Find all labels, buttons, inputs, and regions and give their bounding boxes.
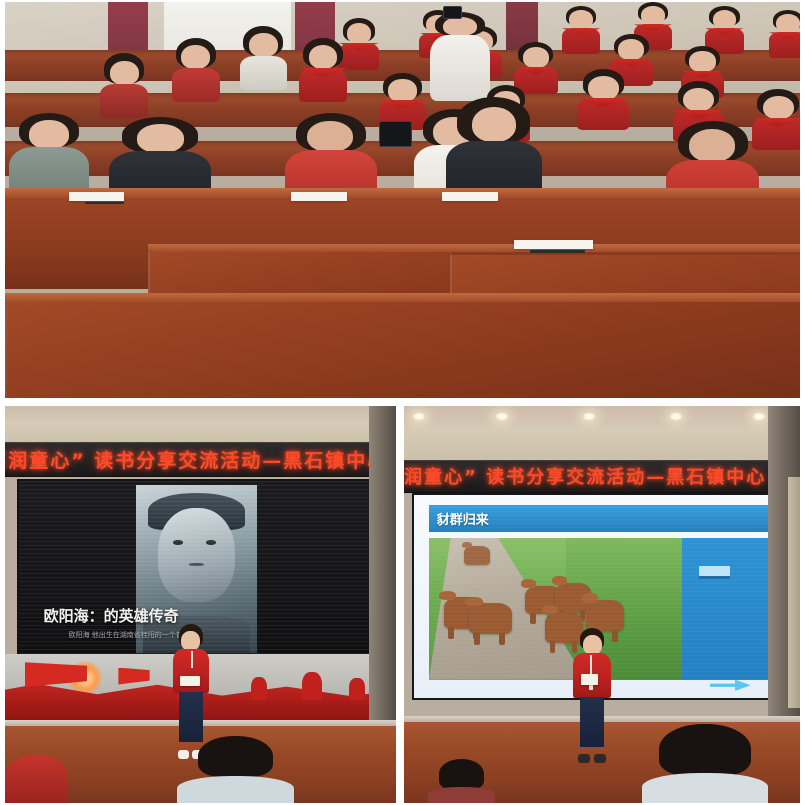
student: [562, 6, 602, 54]
red-neckerchief: [609, 59, 653, 67]
face: [158, 508, 235, 602]
parent: [240, 26, 288, 89]
torso: [430, 35, 490, 101]
shoulders: [642, 773, 769, 803]
hair: [198, 736, 273, 778]
audience-silhouette: [428, 759, 495, 803]
head: [713, 10, 737, 29]
flag-silhouette: [118, 668, 149, 686]
slide-arrow: [710, 680, 751, 691]
audience-silhouette: [177, 736, 294, 803]
red-neckerchief: [705, 28, 743, 35]
head: [465, 597, 483, 606]
ceiling-downlight: [412, 412, 426, 421]
head: [309, 45, 338, 69]
slide-title-right: 豺群归来: [429, 509, 489, 528]
head: [462, 542, 473, 548]
torso: [752, 118, 800, 149]
torso: [577, 98, 629, 129]
head: [776, 14, 800, 33]
presenter-boy: [570, 628, 614, 763]
front-desk-top-edge: [5, 293, 800, 302]
hair: [659, 724, 750, 776]
red-neckerchief: [634, 24, 672, 31]
head: [588, 76, 619, 100]
red-neckerchief: [379, 100, 427, 108]
head: [439, 591, 456, 600]
smartphone: [379, 121, 413, 147]
parent: [172, 38, 220, 101]
note-card: [180, 676, 200, 687]
red-neckerchief: [752, 118, 800, 127]
eye: [206, 540, 216, 544]
pen: [530, 250, 586, 253]
audience-silhouette: [5, 755, 68, 803]
shoulders: [428, 787, 495, 803]
red-neckerchief: [577, 98, 629, 107]
photo-collage: 石润童心” 读书分享交流活动—黑石镇中心 欧阳海：的英雄传奇 欧阳海 他出生在湖…: [0, 0, 805, 805]
red-neckerchief: [299, 68, 347, 78]
head: [683, 88, 714, 112]
head: [641, 6, 665, 25]
dhole-photo: [429, 538, 682, 680]
head: [552, 576, 567, 585]
paper-sheet: [291, 192, 347, 201]
slide-title-left: 欧阳海：的英雄传奇: [44, 605, 179, 626]
banner-text: 石润童心” 读书分享交流活动—黑石镇中心: [404, 463, 766, 489]
note-card: [581, 674, 598, 685]
head: [763, 96, 794, 120]
head: [137, 124, 184, 153]
ceiling: [5, 406, 396, 446]
torso: [562, 28, 600, 54]
shoe: [594, 754, 606, 763]
hair: [439, 759, 485, 790]
smartphone: [443, 6, 462, 19]
shoulders: [5, 755, 68, 803]
figure-silhouette: [302, 672, 322, 700]
ceiling: [404, 406, 800, 462]
head: [110, 61, 139, 85]
eye: [173, 540, 183, 544]
red-neckerchief: [673, 110, 725, 119]
red-neckerchief: [562, 28, 600, 35]
student: [752, 89, 800, 148]
head: [388, 79, 417, 101]
torso: [769, 32, 800, 58]
pillar: [788, 477, 800, 707]
stage-photo-left: 石润童心” 读书分享交流活动—黑石镇中心 欧阳海：的英雄传奇 欧阳海 他出生在湖…: [5, 406, 396, 803]
audience-photo: [5, 2, 800, 398]
head: [249, 33, 278, 57]
head: [582, 593, 598, 602]
figure-silhouette: [349, 678, 365, 700]
head: [443, 17, 476, 36]
dhole: [464, 546, 489, 564]
ceiling-downlight: [495, 412, 509, 421]
head: [347, 23, 371, 44]
head: [521, 579, 537, 588]
leg: [499, 633, 505, 645]
student: [768, 10, 800, 58]
student: [100, 53, 148, 116]
event-banner-right: 石润童心” 读书分享交流活动—黑石镇中心: [404, 460, 800, 494]
head: [689, 129, 735, 162]
desk-top-edge: [148, 244, 800, 252]
torso: [299, 68, 347, 102]
leg: [530, 613, 535, 624]
torso: [100, 84, 148, 118]
slide-title-bar: 豺群归来: [429, 505, 771, 531]
head: [689, 51, 715, 72]
red-neckerchief: [681, 71, 725, 79]
head: [618, 39, 644, 60]
front-desk-panel: [5, 299, 800, 398]
figure-silhouette: [251, 677, 267, 700]
red-neckerchief: [769, 32, 800, 39]
head: [569, 10, 593, 29]
torso: [172, 68, 220, 102]
lanyard: [191, 651, 193, 667]
desk-top-edge: [5, 188, 800, 198]
leg: [550, 641, 555, 653]
student: [577, 69, 629, 128]
pen: [85, 202, 125, 205]
student: [299, 38, 347, 101]
audience-silhouette: [642, 724, 769, 803]
head: [181, 45, 210, 69]
paper-sheet: [514, 240, 594, 250]
mouth: [189, 563, 204, 566]
shoulders: [177, 776, 294, 803]
head: [523, 47, 549, 68]
shoe: [578, 754, 590, 763]
head: [472, 107, 517, 142]
leg: [474, 633, 480, 645]
event-banner-left: 石润童心” 读书分享交流活动—黑石镇中心: [5, 442, 396, 478]
leg: [448, 627, 454, 639]
adult-with-phone: [430, 6, 490, 101]
slide-chip: [699, 566, 730, 579]
head: [29, 120, 69, 149]
red-neckerchief: [514, 67, 558, 75]
dhole: [469, 603, 512, 634]
banner-text: 石润童心” 读书分享交流活动—黑石镇中心: [5, 446, 388, 473]
head: [542, 605, 558, 614]
paper-sheet: [69, 192, 125, 201]
torso: [240, 56, 288, 90]
head: [307, 121, 353, 153]
trousers: [179, 692, 203, 742]
stage-photo-right: 石润童心” 读书分享交流活动—黑石镇中心 豺群归来: [404, 406, 800, 803]
paper-sheet: [442, 192, 498, 201]
trousers: [580, 697, 604, 747]
dhole: [586, 600, 624, 631]
